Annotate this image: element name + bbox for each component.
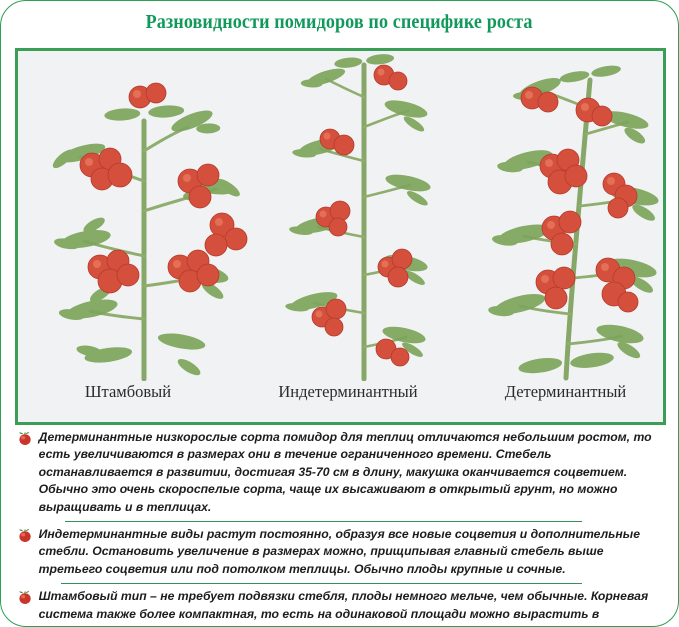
plant-shtambovy-graphic [40, 61, 250, 381]
tomato-icon [17, 589, 34, 605]
description-item-indeterminantny: Индетерминантные виды растут постоянно, … [15, 526, 652, 578]
description-text-shtambovy: Штамбовый тип – не требует подвязки стеб… [39, 589, 649, 627]
tomato-icon [17, 430, 34, 446]
description-item-determinantny: Детерминантные низкорослые сорта помидор… [15, 429, 652, 516]
tomato-icon [17, 527, 34, 543]
divider-1 [65, 521, 582, 522]
title-bar: Разновидности помидоров по специфике рос… [1, 1, 678, 45]
plant-illustration-determinantny [470, 56, 666, 381]
plant-illustration-shtambovy [40, 61, 250, 381]
divider-2 [61, 583, 582, 584]
caption-indeterminantny: Индетерминантный [233, 382, 463, 402]
description-item-shtambovy: Штамбовый тип – не требует подвязки стеб… [15, 588, 652, 627]
infographic-card: Разновидности помидоров по специфике рос… [0, 0, 679, 627]
plant-illustrations [18, 51, 663, 381]
illustration-panel: Штамбовый Индетерминантный Детерминантны… [15, 48, 666, 425]
plant-indeterminantny-graphic [280, 51, 440, 381]
plant-illustration-indeterminantny [280, 51, 440, 381]
caption-determinantny: Детерминантный [468, 382, 663, 402]
plant-captions: Штамбовый Индетерминантный Детерминантны… [18, 382, 663, 414]
description-list: Детерминантные низкорослые сорта помидор… [1, 429, 678, 626]
description-text-determinantny: Детерминантные низкорослые сорта помидор… [39, 430, 652, 514]
page-title: Разновидности помидоров по специфике рос… [146, 12, 533, 34]
description-text-indeterminantny: Индетерминантные виды растут постоянно, … [39, 527, 640, 576]
plant-determinantny-graphic [470, 56, 666, 381]
caption-shtambovy: Штамбовый [28, 382, 228, 402]
